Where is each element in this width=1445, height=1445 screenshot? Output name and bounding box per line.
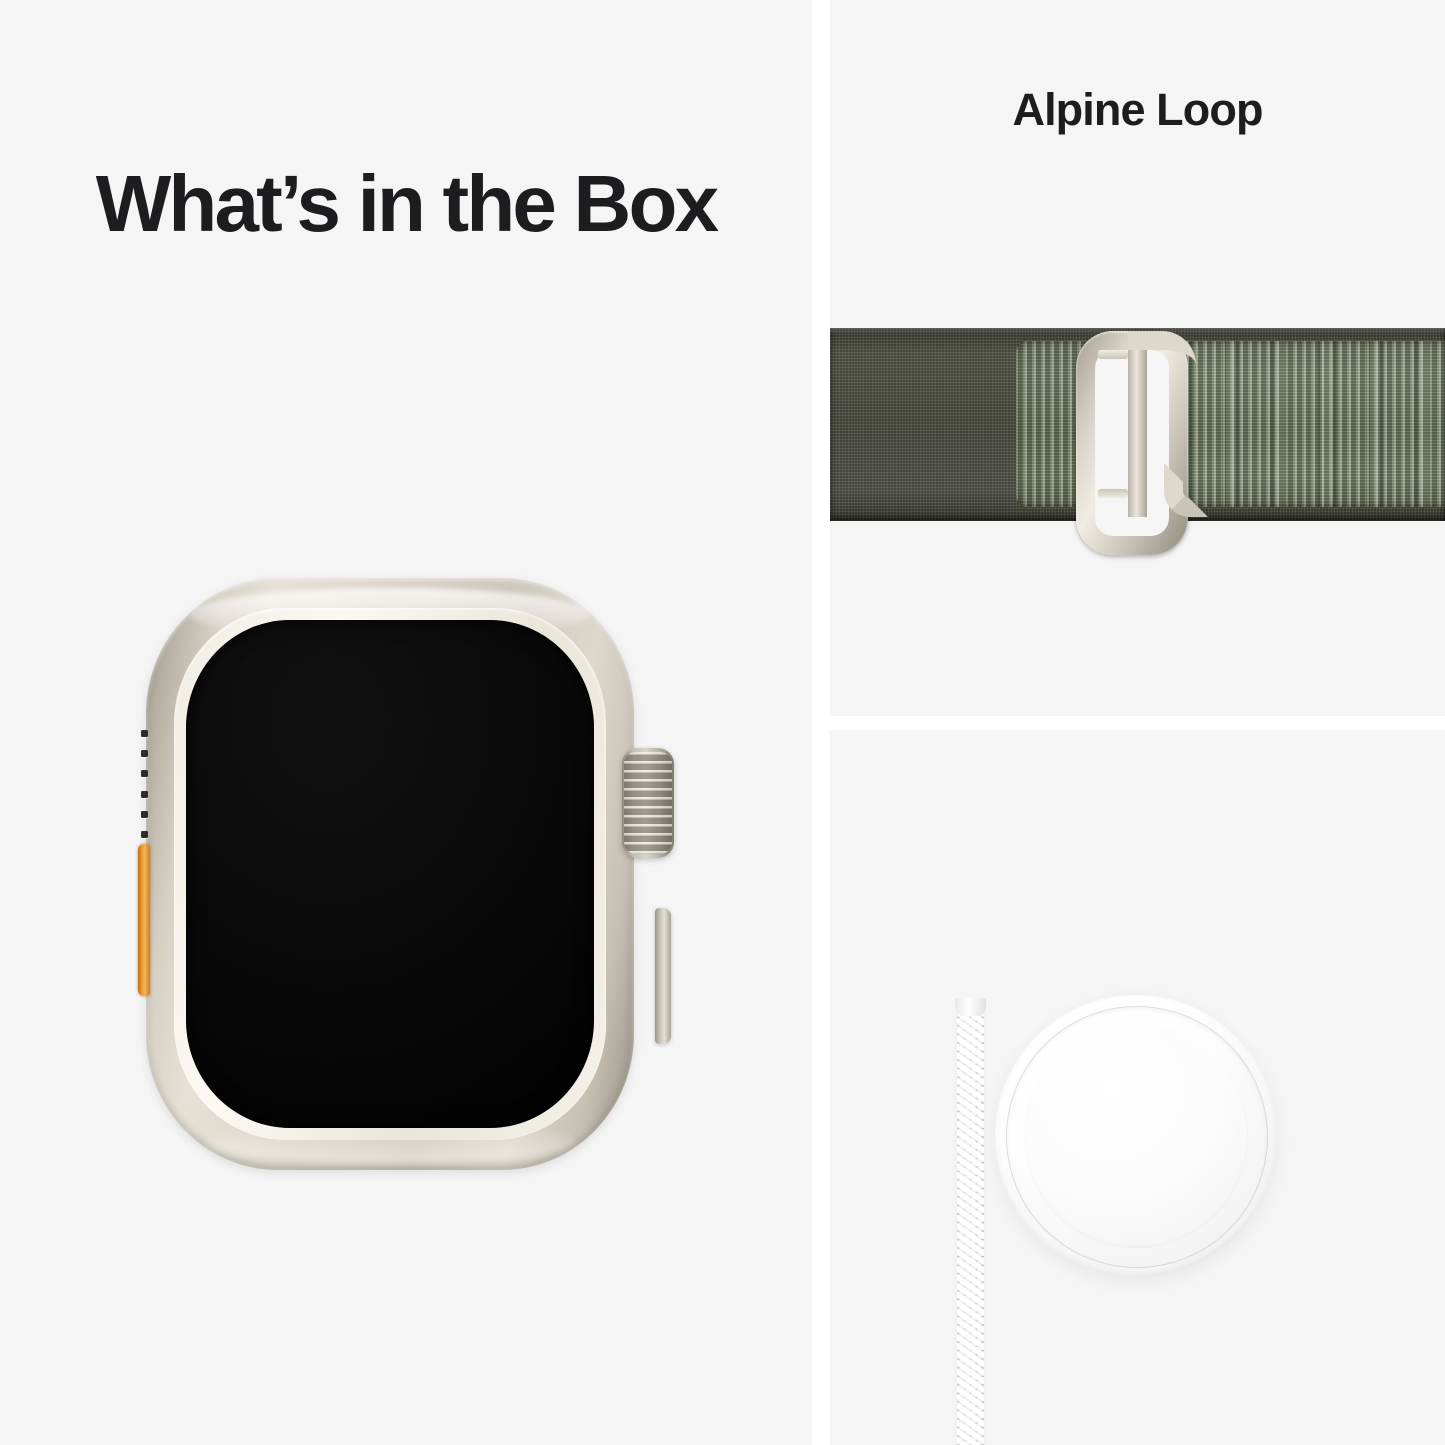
- grille-hole: [141, 831, 148, 838]
- charger-inner-disc: [1026, 1026, 1246, 1246]
- g-hook-arm-curl: [1164, 463, 1208, 517]
- g-hook-buckle: [1076, 331, 1196, 517]
- cable-neck: [955, 998, 986, 1016]
- grille-hole: [141, 811, 148, 818]
- alpine-loop-title: Alpine Loop: [830, 85, 1445, 135]
- whats-in-the-box-layout: What’s in the Box Alpine Lo: [0, 0, 1445, 1445]
- g-hook-tab-bottom: [1098, 489, 1128, 498]
- speaker-grille-icon: [140, 730, 149, 838]
- apple-watch-ultra-image: [138, 578, 668, 1170]
- g-hook-arm: [1128, 331, 1196, 517]
- grille-hole: [141, 770, 148, 777]
- g-hook-tab-top: [1098, 350, 1128, 359]
- alpine-loop-panel: Alpine Loop: [830, 0, 1445, 716]
- braided-cable: [957, 1005, 984, 1445]
- page-title: What’s in the Box: [0, 160, 812, 248]
- alpine-loop-band-image: [830, 328, 1445, 521]
- side-button: [655, 908, 671, 1044]
- grille-hole: [141, 750, 148, 757]
- usb-c-magnetic-charger-image: [830, 730, 1445, 1445]
- charger-puck: [995, 995, 1277, 1277]
- grille-hole: [141, 791, 148, 798]
- watch-display-screen: [186, 620, 594, 1128]
- charging-cable-panel: USB-C Magnetic Fast Charging Cable: [830, 730, 1445, 1445]
- digital-crown: [622, 748, 674, 858]
- watch-panel: What’s in the Box: [0, 0, 812, 1445]
- g-hook-arm-top: [1128, 331, 1196, 389]
- orange-action-button: [138, 844, 150, 996]
- grille-hole: [141, 730, 148, 737]
